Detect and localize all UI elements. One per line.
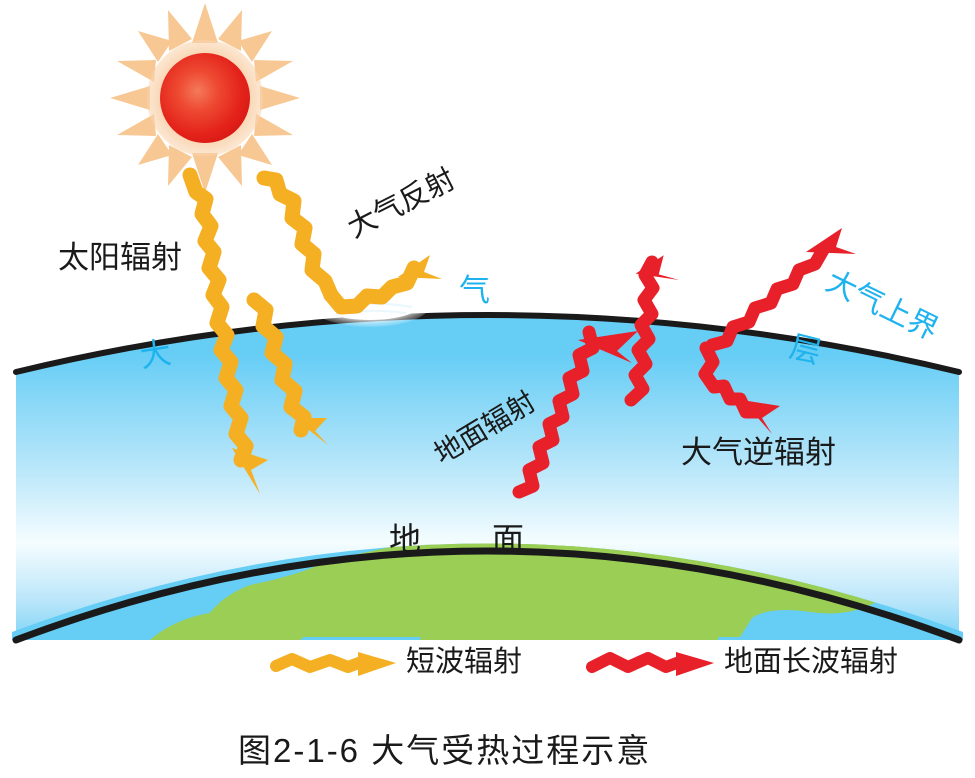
legend-icon-shortwave: [276, 652, 396, 676]
legend-icon-longwave: [592, 652, 714, 676]
figure-canvas: 太阳辐射 大气反射 地面辐射 大气逆辐射 地 面 大 气 层 大气上界 短波辐射…: [0, 0, 975, 778]
legend-label-longwave: 地面长波辐射: [724, 648, 898, 677]
legend-label-shortwave: 短波辐射: [406, 648, 522, 677]
figure-caption: 图2-1-6 大气受热过程示意: [238, 724, 651, 772]
